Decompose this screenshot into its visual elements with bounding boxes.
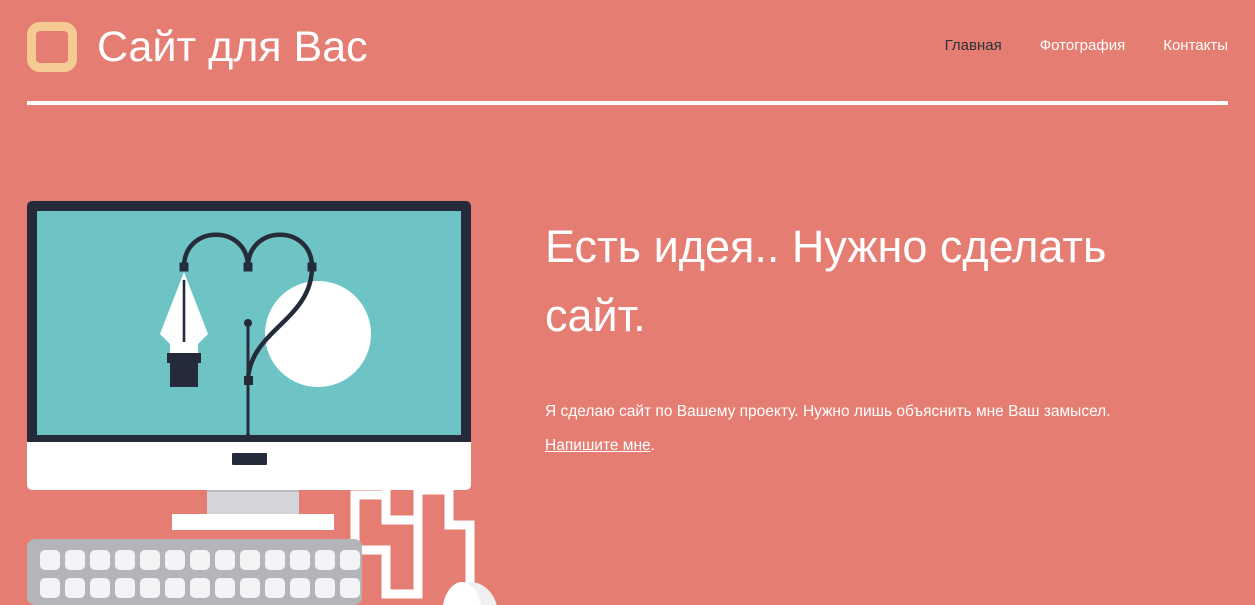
brand[interactable]: Сайт для Вас [27, 17, 368, 77]
site-header: Сайт для Вас Главная Фотография Контакты [27, 0, 1228, 104]
anchor-point [308, 263, 317, 272]
hero-paragraph-text-before: Я сделаю сайт по Вашему проекту. Нужно л… [545, 403, 1111, 420]
hero-paragraph: Я сделаю сайт по Вашему проекту. Нужно л… [545, 395, 1165, 463]
header-divider [27, 101, 1228, 105]
nav-item-glavnaya[interactable]: Главная [945, 38, 1002, 53]
page-title: Сайт для Вас [97, 26, 368, 69]
monitor-power-button [232, 453, 267, 465]
main-nav: Главная Фотография Контакты [945, 38, 1228, 53]
nav-item-fotografiya[interactable]: Фотография [1040, 38, 1125, 53]
page-root: Сайт для Вас Главная Фотография Контакты… [0, 0, 1255, 605]
keyboard[interactable] [27, 539, 362, 605]
white-circle [265, 281, 371, 387]
rounded-square-outline-icon [27, 22, 77, 72]
illustration-svg [0, 190, 540, 605]
mouse [442, 582, 498, 605]
anchor-point [244, 376, 253, 385]
anchor-point [244, 263, 253, 272]
hero-text-block: Есть идея.. Нужно сделать сайт. Я сделаю… [545, 212, 1170, 463]
hero-paragraph-text-after: . [651, 437, 655, 454]
anchor-point [180, 263, 189, 272]
hero-heading: Есть идея.. Нужно сделать сайт. [545, 212, 1170, 350]
desktop-computer-pen-tool-heart-illustration [0, 190, 540, 605]
nav-item-kontakty[interactable]: Контакты [1163, 38, 1228, 53]
contact-link[interactable]: Напишите мне [545, 437, 651, 454]
monitor-stand [172, 486, 334, 530]
